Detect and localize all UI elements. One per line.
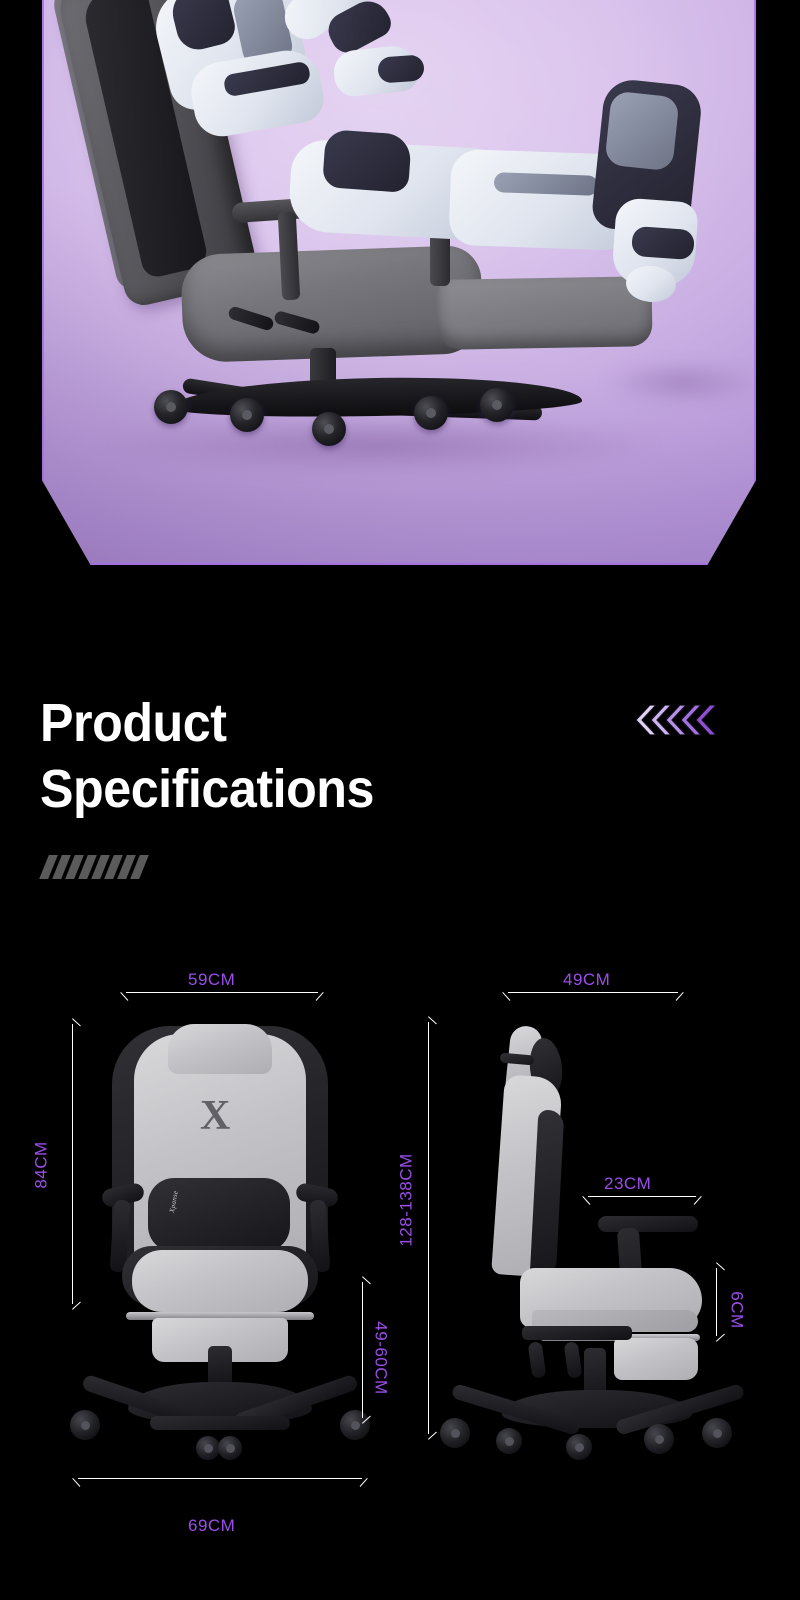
- side-total-height-label: 128-138CM: [397, 1153, 417, 1246]
- front-caster-left: [70, 1410, 100, 1440]
- side-height-lever: [564, 1341, 583, 1379]
- hero-chair-footrest: [436, 276, 652, 350]
- side-caster-4: [644, 1424, 674, 1454]
- side-armrest-bracket: [588, 1196, 696, 1207]
- hero-chair-caster-3: [312, 412, 346, 446]
- front-base-arm-center: [150, 1416, 290, 1430]
- page-title: Product Specifications: [40, 690, 710, 822]
- side-armrest-label: 23CM: [604, 1174, 651, 1194]
- front-seat-height-label: 49-60CM: [371, 1321, 391, 1394]
- robot-knee-armor: [322, 129, 412, 193]
- side-tilt-lever: [528, 1341, 547, 1379]
- side-caster-2: [496, 1428, 522, 1454]
- front-caster-center-right: [218, 1436, 242, 1460]
- side-headrest-strap: [500, 1053, 535, 1066]
- side-total-height-bracket: [428, 1022, 439, 1434]
- chevron-decoration: [636, 702, 736, 738]
- front-lumbar-pillow: [148, 1178, 290, 1252]
- specification-diagram: Xpanse X Xpanse: [0, 950, 800, 1570]
- front-backrest-height-label: 84CM: [32, 1141, 52, 1188]
- slash-decoration: [44, 855, 144, 879]
- front-base-width-bracket: [78, 1478, 362, 1489]
- front-width-bracket: [126, 992, 318, 1003]
- front-backrest-top: [168, 1024, 272, 1074]
- side-caster-3: [566, 1434, 592, 1460]
- product-hero-image: [42, 0, 756, 565]
- hero-chair-caster-5: [480, 388, 514, 422]
- side-footrest: [614, 1338, 698, 1380]
- hero-chair-caster-1: [154, 390, 188, 424]
- front-backrest-height-bracket: [72, 1024, 83, 1304]
- front-width-label: 59CM: [188, 970, 235, 990]
- product-hero-section: [0, 0, 800, 600]
- hero-chair-caster-2: [230, 398, 264, 432]
- side-caster-1: [440, 1418, 470, 1448]
- hero-chair-caster-4: [414, 396, 448, 430]
- robot-shin-detail: [494, 172, 599, 196]
- front-caster-center-left: [196, 1436, 220, 1460]
- front-backrest-logo: X: [200, 1092, 230, 1140]
- side-seat-thickness-label: 6CM: [727, 1291, 747, 1328]
- hero-floor-shadow: [97, 415, 657, 475]
- side-depth-bracket: [508, 992, 678, 1003]
- robot-boot-strap: [631, 226, 695, 260]
- chevron-left-icon-5: [696, 705, 716, 735]
- side-caster-5: [702, 1418, 732, 1448]
- front-base-width-label: 69CM: [188, 1516, 235, 1536]
- side-depth-label: 49CM: [563, 970, 610, 990]
- side-tilt-mechanism: [522, 1326, 632, 1340]
- side-armrest-pad: [598, 1216, 698, 1232]
- hero-floor-shadow-secondary: [602, 360, 756, 405]
- front-seat-cushion: [132, 1250, 308, 1312]
- robot-boot-plate: [604, 91, 679, 172]
- robot-fingers: [377, 54, 425, 83]
- side-seat-thickness-bracket: [716, 1268, 727, 1336]
